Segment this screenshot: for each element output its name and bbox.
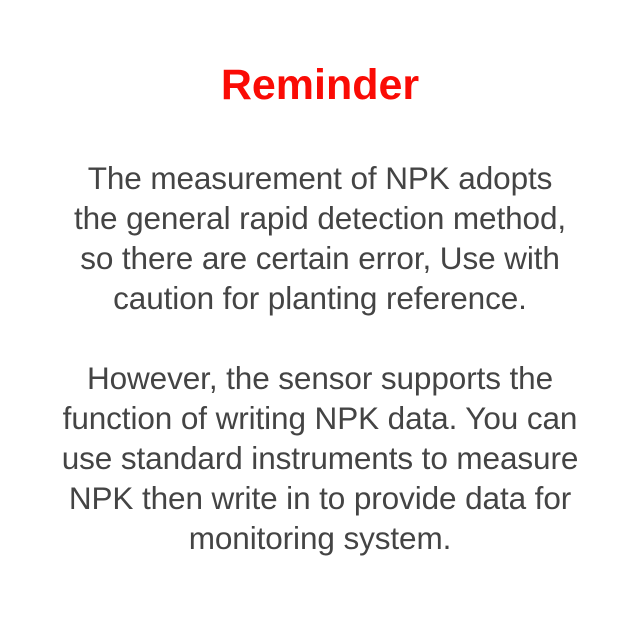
notice-line: use standard instruments to measure — [20, 438, 620, 478]
notice-line: monitoring system. — [20, 518, 620, 558]
notice-line: However, the sensor supports the — [20, 358, 620, 398]
notice-body: The measurement of NPK adopts the genera… — [20, 158, 620, 558]
notice-line: The measurement of NPK adopts — [20, 158, 620, 198]
notice-line: caution for planting reference. — [20, 278, 620, 318]
notice-line: function of writing NPK data. You can — [20, 398, 620, 438]
notice-paragraph-measurement-accuracy: The measurement of NPK adopts the genera… — [20, 158, 620, 318]
notice-line: so there are certain error, Use with — [20, 238, 620, 278]
reminder-notice-card: Reminder The measurement of NPK adopts t… — [0, 0, 640, 640]
notice-line: the general rapid detection method, — [20, 198, 620, 238]
page-title: Reminder — [0, 60, 640, 110]
notice-paragraph-npk-write-support: However, the sensor supports the functio… — [20, 358, 620, 558]
notice-line: NPK then write in to provide data for — [20, 478, 620, 518]
